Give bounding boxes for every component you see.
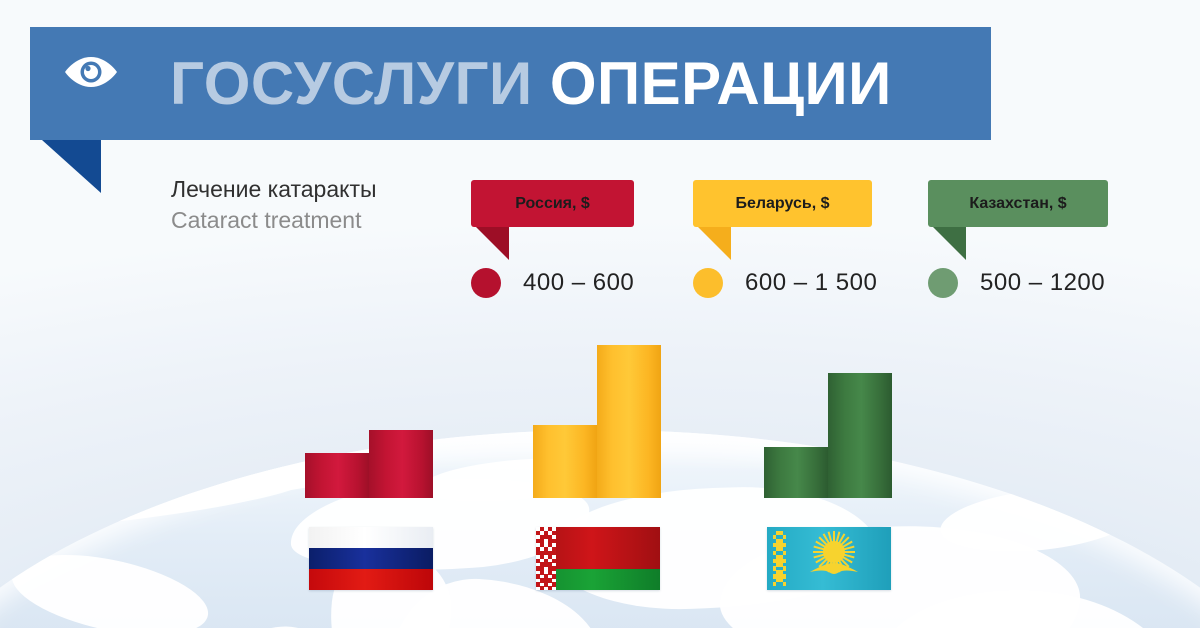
- legend-item-belarus[interactable]: Беларусь, $ 600 – 1 500: [693, 180, 872, 227]
- ribbon-fold: [42, 140, 101, 193]
- bar-belarus-max: [597, 345, 661, 498]
- flag-russia-icon: [309, 527, 433, 590]
- legend-item-russia[interactable]: Россия, $ 400 – 600: [471, 180, 634, 227]
- flag-ornament-belarus: [536, 527, 556, 590]
- legend-range-russia: 400 – 600: [523, 269, 634, 297]
- legend-range-row-belarus: 600 – 1 500: [693, 268, 877, 298]
- flag-sun: [823, 541, 845, 563]
- bar-kazakhstan-min: [764, 447, 828, 498]
- legend-range-row-kazakhstan: 500 – 1200: [928, 268, 1105, 298]
- caption-ru: Лечение катаракты: [171, 174, 377, 204]
- title-light: ГОСУСЛУГИ: [170, 50, 533, 117]
- bar-russia-max: [369, 430, 433, 498]
- flag-stripe-white: [309, 527, 433, 548]
- bar-group-russia: [305, 430, 433, 498]
- flag-stripe-red: [309, 569, 433, 590]
- eye-icon: [63, 54, 119, 90]
- caption-en: Cataract treatment: [171, 204, 377, 236]
- bar-group-kazakhstan: [764, 373, 892, 498]
- legend-dot-kazakhstan: [928, 268, 958, 298]
- infographic-canvas: ГОСУСЛУГИ ОПЕРАЦИИ Лечение катаракты Cat…: [0, 0, 1200, 628]
- flag-belarus-icon: [536, 527, 660, 590]
- legend-dot-belarus: [693, 268, 723, 298]
- legend-pill-russia[interactable]: Россия, $: [471, 180, 634, 227]
- legend-pill-tail: [698, 227, 731, 260]
- legend-pill-label: Россия, $: [499, 195, 606, 213]
- legend-pill-tail: [933, 227, 966, 260]
- flag-eagle: [807, 561, 861, 575]
- landmass: [182, 618, 349, 628]
- page-title: ГОСУСЛУГИ ОПЕРАЦИИ: [170, 35, 892, 133]
- flag-stripe-blue: [309, 548, 433, 569]
- legend-dot-russia: [471, 268, 501, 298]
- bar-kazakhstan-max: [828, 373, 892, 498]
- legend-range-belarus: 600 – 1 500: [745, 269, 877, 297]
- legend-pill-kazakhstan[interactable]: Казахстан, $: [928, 180, 1108, 227]
- title-strong: ОПЕРАЦИИ: [550, 50, 892, 117]
- caption-block: Лечение катаракты Cataract treatment: [171, 174, 377, 236]
- bar-russia-min: [305, 453, 369, 498]
- bar-group-belarus: [533, 345, 661, 498]
- legend-pill-label: Беларусь, $: [719, 195, 845, 213]
- flag-ornament-kazakhstan: [773, 531, 786, 586]
- legend-pill-belarus[interactable]: Беларусь, $: [693, 180, 872, 227]
- legend-item-kazakhstan[interactable]: Казахстан, $ 500 – 1200: [928, 180, 1108, 227]
- flag-kazakhstan-icon: [767, 527, 891, 590]
- legend-range-row-russia: 400 – 600: [471, 268, 634, 298]
- legend-pill-label: Казахстан, $: [953, 195, 1082, 213]
- bar-belarus-min: [533, 425, 597, 498]
- legend-range-kazakhstan: 500 – 1200: [980, 269, 1105, 297]
- legend-pill-tail: [476, 227, 509, 260]
